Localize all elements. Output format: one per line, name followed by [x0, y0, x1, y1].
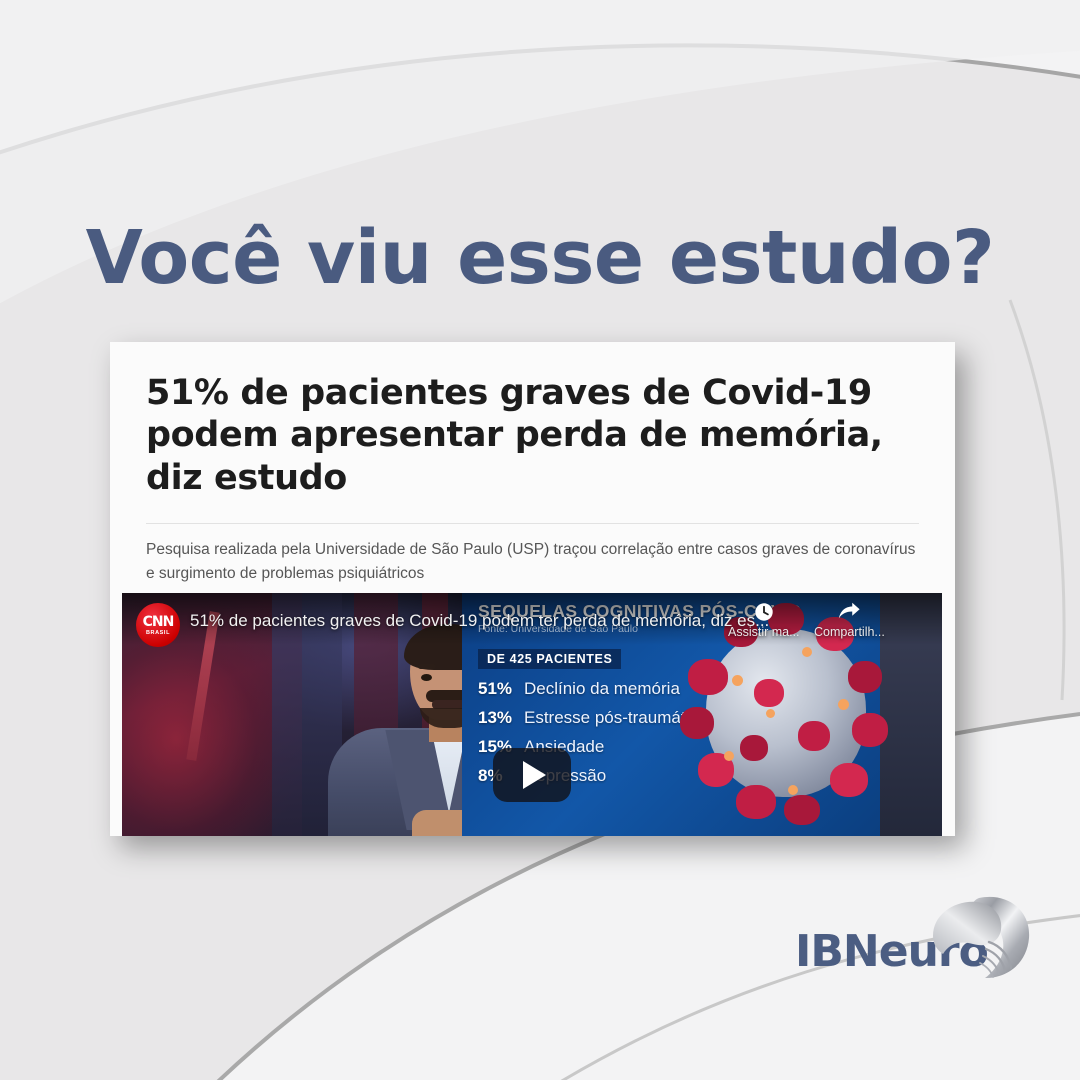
stat-label: Declínio da memória [524, 679, 680, 699]
article-description: Pesquisa realizada pela Universidade de … [146, 538, 919, 586]
share-arrow-icon [837, 601, 861, 623]
card-divider [146, 523, 919, 524]
article-headline: 51% de pacientes graves de Covid-19 pode… [146, 372, 919, 499]
brand-logo: IBNeuro [795, 930, 988, 974]
article-card[interactable]: 51% de pacientes graves de Covid-19 pode… [110, 342, 955, 836]
cnn-logo-text: CNN [143, 615, 174, 629]
watch-later-label: Assistir ma... [728, 625, 800, 639]
anchor-eye-left [421, 674, 432, 681]
poster-canvas: Você viu esse estudo? 51% de pacientes g… [0, 0, 1080, 1080]
share-button[interactable]: Compartilh... [814, 601, 885, 639]
anchor-brow-left [418, 664, 436, 669]
video-frame: SEQUELAS COGNITIVAS PÓS-COVID Fonte: Uni… [122, 593, 942, 836]
play-triangle-icon [523, 761, 546, 789]
stat-percent: 13% [478, 708, 516, 728]
video-player[interactable]: SEQUELAS COGNITIVAS PÓS-COVID Fonte: Uni… [122, 593, 942, 836]
page-title: Você viu esse estudo? [0, 215, 1080, 301]
infographic-sample-badge: DE 425 PACIENTES [478, 649, 621, 669]
play-button[interactable] [493, 748, 571, 802]
cnn-logo-subtext: BRASIL [146, 630, 170, 636]
video-title[interactable]: 51% de pacientes graves de Covid-19 pode… [190, 611, 769, 631]
clock-icon [753, 601, 775, 623]
stat-percent: 51% [478, 679, 516, 699]
watch-later-button[interactable]: Assistir ma... [728, 601, 800, 639]
brain-wave-sphere-icon [915, 892, 1035, 992]
share-label: Compartilh... [814, 625, 885, 639]
cnn-brasil-logo-icon[interactable]: CNN BRASIL [136, 603, 180, 647]
